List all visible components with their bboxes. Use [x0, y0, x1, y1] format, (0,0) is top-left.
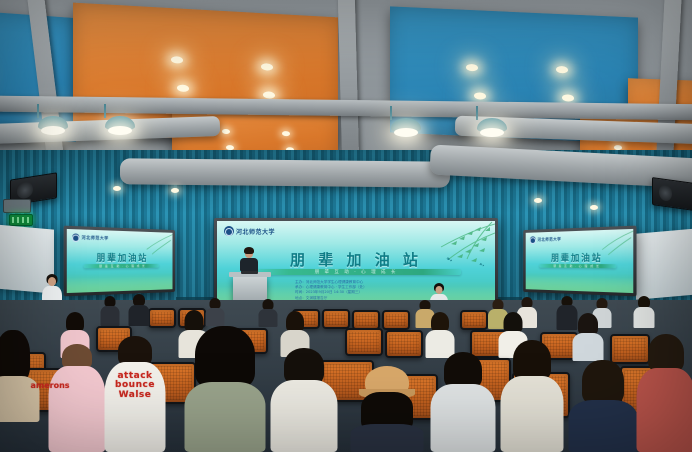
audience-member [258, 299, 278, 327]
lamp-cord [476, 106, 478, 120]
left-screen-content: 河北师范大学 朋辈加油站 朋 辈 互 助 · 心 理 成 长 [67, 229, 173, 293]
line-array-speaker-right [652, 177, 692, 211]
recessed-light [261, 63, 273, 71]
hair [431, 312, 449, 332]
logo-emblem-icon [72, 233, 79, 241]
hair [513, 340, 551, 380]
hair [648, 334, 684, 372]
chair[interactable] [385, 330, 419, 354]
logo-university-name: 河北师范大学 [236, 227, 275, 236]
screen-info-block: 主办：河北师范大学学生心理健康教育中心 承办：心理健康教育中心 · 学生工作部（… [295, 280, 367, 301]
chair-mesh [152, 312, 172, 324]
shirt-graphic-text: attack bounce Walse [115, 372, 155, 400]
presenter-body [240, 258, 258, 271]
lamp-bulb [394, 128, 418, 137]
hair-bun [195, 326, 255, 388]
side-screen-left: 河北师范大学 朋辈加油站 朋 辈 互 助 · 心 理 成 长 [64, 226, 175, 297]
lamp-cord [104, 104, 106, 118]
recessed-light [222, 129, 230, 134]
recessed-light [466, 64, 478, 72]
right-screen-content: 河北师范大学 朋辈加油站 朋 辈 互 助 · 心 理 成 长 [526, 229, 634, 293]
exit-sign [9, 214, 33, 226]
torso [501, 376, 564, 452]
presenter-hair [244, 247, 254, 254]
side-screen-right: 河北师范大学 朋辈加油站 朋 辈 互 助 · 心 理 成 长 [523, 226, 636, 297]
chair-mesh [389, 334, 419, 354]
torso [185, 382, 266, 452]
screen-info-line: 时间：2023年9月20日 14:30（星期三） [295, 290, 367, 295]
lamp-bulb [480, 128, 504, 137]
soffit-downlight [171, 188, 179, 193]
soffit-downlight [113, 186, 121, 191]
lamp-bulb [108, 126, 132, 135]
recessed-light [474, 92, 486, 100]
chair-back [385, 330, 423, 358]
torso [573, 333, 604, 361]
soffit-downlight [534, 198, 542, 203]
chair-back [345, 328, 383, 356]
hair [284, 348, 324, 384]
audience-member [0, 330, 40, 420]
screen-university-logo: 河北师范大学 [530, 235, 561, 243]
chair-back [382, 310, 410, 330]
recessed-light [177, 84, 189, 92]
hair [66, 312, 84, 332]
audience-member [572, 313, 604, 361]
wall-control-box[interactable] [3, 199, 31, 213]
torso [351, 424, 424, 452]
chair-back [352, 310, 380, 330]
chair[interactable] [460, 310, 484, 326]
torso [431, 384, 496, 452]
audience-member [48, 344, 106, 452]
recessed-light [171, 56, 183, 64]
hair [286, 311, 304, 332]
shirt-graphic-text: amerons [30, 382, 69, 390]
torso [49, 366, 106, 452]
audience-member-foreground [184, 326, 266, 452]
ceiling [0, 0, 692, 168]
stage-soffit [120, 158, 450, 187]
hair [0, 330, 30, 382]
hair [578, 313, 598, 335]
chair-mesh [356, 314, 376, 326]
hair [582, 360, 624, 404]
willow-branch-decor [590, 229, 633, 257]
torso [129, 305, 150, 326]
recessed-light [282, 131, 290, 136]
chair-mesh [349, 332, 379, 352]
screen-hill-decor [526, 272, 634, 293]
screen-university-logo: 河北师范大学 [224, 226, 275, 236]
head [48, 277, 56, 286]
lamp-cord [390, 106, 392, 120]
audience-member [636, 334, 692, 452]
chair-back [460, 310, 488, 330]
audience-member [633, 296, 655, 328]
recessed-light [562, 94, 574, 102]
screen-main-title: 朋 辈 加 油 站 [217, 249, 495, 270]
logo-emblem-icon [224, 226, 234, 236]
lamp-cord [37, 104, 39, 118]
recessed-light [263, 91, 275, 99]
audience-member [270, 348, 338, 452]
torso [101, 306, 120, 326]
recessed-light [556, 66, 568, 74]
chair[interactable] [345, 328, 379, 352]
torso [637, 368, 692, 452]
logo-university-name: 河北师范大学 [82, 234, 109, 241]
chair[interactable] [322, 309, 346, 325]
screen-university-logo: 河北师范大学 [72, 233, 109, 241]
audience-member [350, 366, 424, 452]
torso [259, 309, 278, 327]
chair-mesh [464, 314, 484, 326]
torso [634, 307, 655, 328]
chair[interactable] [148, 308, 172, 324]
chair-back [148, 308, 176, 328]
wall-panel-white-right [636, 228, 692, 299]
chair-back [322, 309, 350, 329]
audience-member [430, 352, 496, 452]
audience-member [128, 294, 150, 326]
willow-branch-decor [138, 232, 173, 256]
logo-emblem-icon [530, 236, 536, 243]
lecture-hall-photo: 河北师范大学 朋 辈 加 油 站 朋 辈 互 助 · 心 理 成 长 主办：河北… [0, 0, 692, 452]
chair-mesh [386, 314, 406, 326]
audience-member [100, 296, 120, 326]
hair [504, 312, 523, 333]
chair[interactable] [352, 310, 376, 326]
torso [569, 400, 638, 452]
soffit-downlight [590, 205, 598, 210]
head [436, 286, 443, 294]
chair-mesh [326, 313, 346, 325]
audience-member [500, 340, 564, 452]
lamp-bulb [41, 126, 65, 135]
audience-member [568, 360, 638, 452]
chair[interactable] [382, 310, 406, 326]
logo-university-name: 河北师范大学 [537, 236, 561, 242]
screen-hill-decor [67, 272, 173, 293]
torso [271, 380, 338, 452]
hair [444, 352, 482, 388]
